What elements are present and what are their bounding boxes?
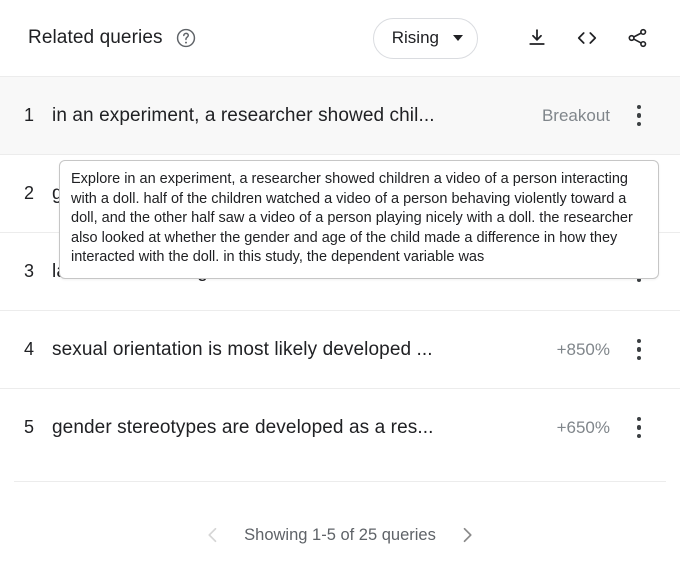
row-rank: 4: [24, 339, 52, 360]
pagination-next-button[interactable]: [452, 520, 482, 550]
more-vert-icon[interactable]: [624, 333, 654, 367]
sort-select[interactable]: Rising: [373, 18, 478, 59]
pagination-status: Showing 1-5 of 25 queries: [244, 526, 436, 545]
query-tooltip: Explore in an experiment, a researcher s…: [59, 160, 659, 279]
sort-select-value: Rising: [392, 28, 439, 48]
share-icon[interactable]: [620, 21, 654, 55]
row-query: in an experiment, a researcher showed ch…: [52, 105, 526, 127]
row-rank: 3: [24, 261, 52, 282]
row-query: gender stereotypes are developed as a re…: [52, 417, 541, 439]
chevron-down-icon: [453, 35, 463, 41]
list-item[interactable]: 4 sexual orientation is most likely deve…: [0, 310, 680, 388]
help-circle-icon[interactable]: [175, 27, 197, 49]
related-queries-panel: Related queries Rising: [0, 0, 680, 564]
panel-header: Related queries Rising: [0, 0, 680, 76]
embed-code-icon[interactable]: [570, 21, 604, 55]
row-query: sexual orientation is most likely develo…: [52, 339, 541, 361]
row-value: +650%: [557, 418, 610, 438]
pagination: Showing 1-5 of 25 queries: [0, 505, 680, 565]
download-icon[interactable]: [520, 21, 554, 55]
row-rank: 2: [24, 183, 52, 204]
pagination-prev-button[interactable]: [198, 520, 228, 550]
row-rank: 5: [24, 417, 52, 438]
header-actions: Rising: [373, 18, 654, 59]
list-item[interactable]: 1 in an experiment, a researcher showed …: [0, 76, 680, 154]
list-item[interactable]: 5 gender stereotypes are developed as a …: [0, 388, 680, 466]
row-value: +850%: [557, 340, 610, 360]
row-rank: 1: [24, 105, 52, 126]
more-vert-icon[interactable]: [624, 99, 654, 133]
row-value: Breakout: [542, 106, 610, 126]
footer-divider: [14, 481, 666, 482]
more-vert-icon[interactable]: [624, 411, 654, 445]
page-title: Related queries: [28, 27, 163, 49]
